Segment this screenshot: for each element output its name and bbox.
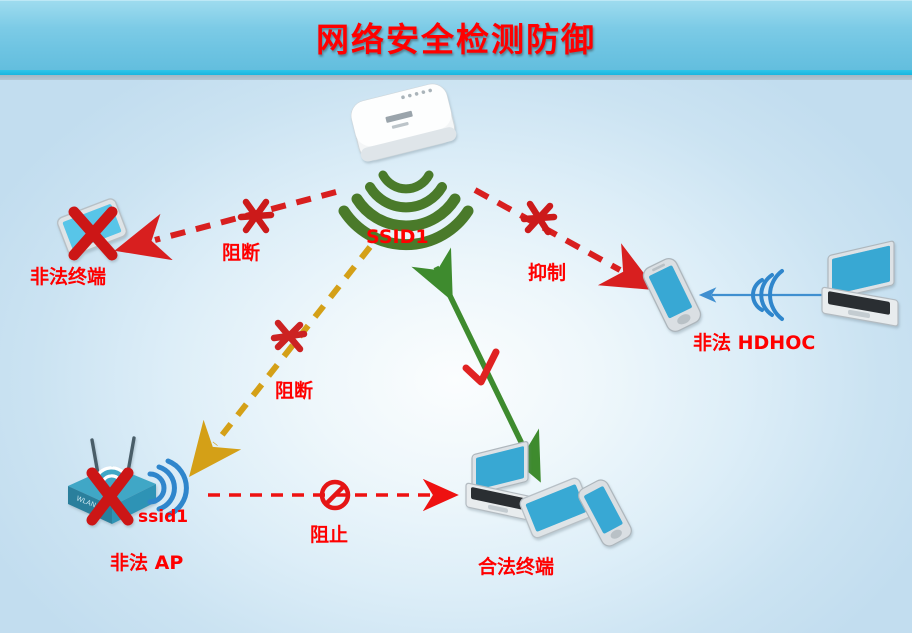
rogue-ap-ssid-label: ssid1 <box>138 507 188 527</box>
node-label-rogue-terminal: 非法终端 <box>30 262 106 289</box>
wireless-access-point-icon <box>348 81 458 163</box>
node-label-rogue-ap: 非法 AP <box>110 548 183 575</box>
node-label-rogue-adhoc: 非法 HDHOC <box>693 328 815 355</box>
node-label-legal-terminals: 合法终端 <box>478 552 554 579</box>
page-title: 网络安全检测防御 <box>0 13 912 61</box>
rogue-adhoc-phone-icon <box>640 256 703 335</box>
diagram-canvas: WLAN <box>0 80 912 633</box>
rogue-tablet-icon <box>56 197 128 257</box>
rogue-adhoc-laptop-icon <box>822 241 898 327</box>
action-label-block-ap: 阻断 <box>275 376 313 403</box>
ssid-label: SSID1 <box>366 226 429 248</box>
action-label-suppress-adhoc: 抑制 <box>528 258 566 285</box>
network-security-diagram: 网络安全检测防御 <box>0 0 912 633</box>
action-label-prevent: 阻止 <box>310 520 348 547</box>
legal-terminals-icon <box>466 441 634 549</box>
action-label-block-terminal: 阻断 <box>222 238 260 265</box>
